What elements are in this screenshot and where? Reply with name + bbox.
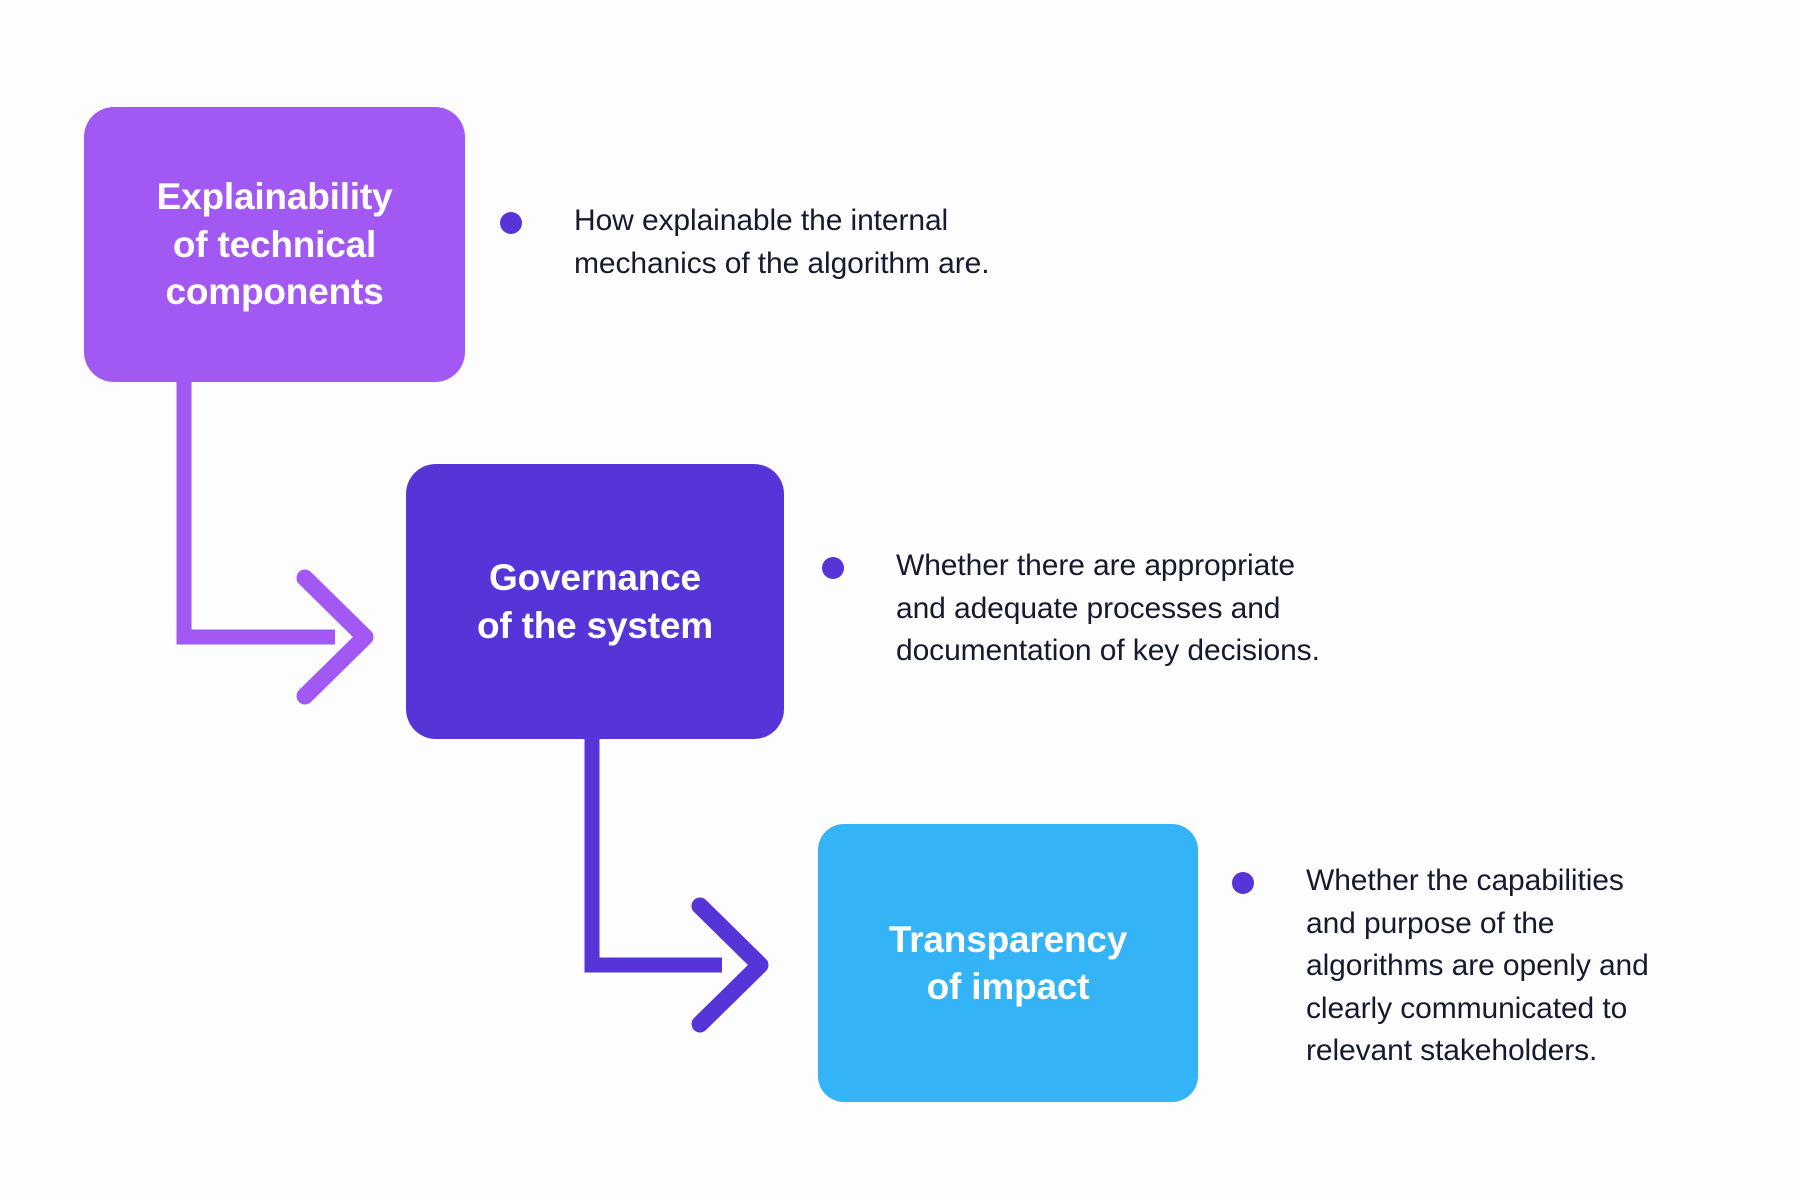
bullet-item-explainability: How explainable the internal mechanics o…: [500, 200, 989, 285]
bullet-dot-icon: [822, 557, 844, 579]
node-governance[interactable]: Governance of the system: [406, 464, 784, 739]
connector-governance-to-transparency: [592, 739, 760, 1024]
bullet-dot-icon: [1232, 872, 1254, 894]
node-transparency[interactable]: Transparency of impact: [818, 824, 1198, 1102]
bullet-text-governance: Whether there are appropriate and adequa…: [896, 545, 1320, 673]
connector-2-arrowhead-icon: [700, 906, 760, 1024]
connector-1-path: [184, 382, 335, 637]
bullet-item-transparency: Whether the capabilities and purpose of …: [1232, 860, 1649, 1073]
bullet-text-explainability: How explainable the internal mechanics o…: [574, 200, 989, 285]
node-explainability[interactable]: Explainability of technical components: [84, 107, 465, 382]
connector-2-path: [592, 739, 722, 965]
connector-1-arrowhead-icon: [305, 578, 365, 696]
bullet-item-governance: Whether there are appropriate and adequa…: [822, 545, 1320, 673]
bullet-dot-icon: [500, 212, 522, 234]
connector-explainability-to-governance: [184, 382, 365, 696]
diagram-canvas: Explainability of technical components G…: [0, 0, 1800, 1200]
bullet-text-transparency: Whether the capabilities and purpose of …: [1306, 860, 1649, 1073]
